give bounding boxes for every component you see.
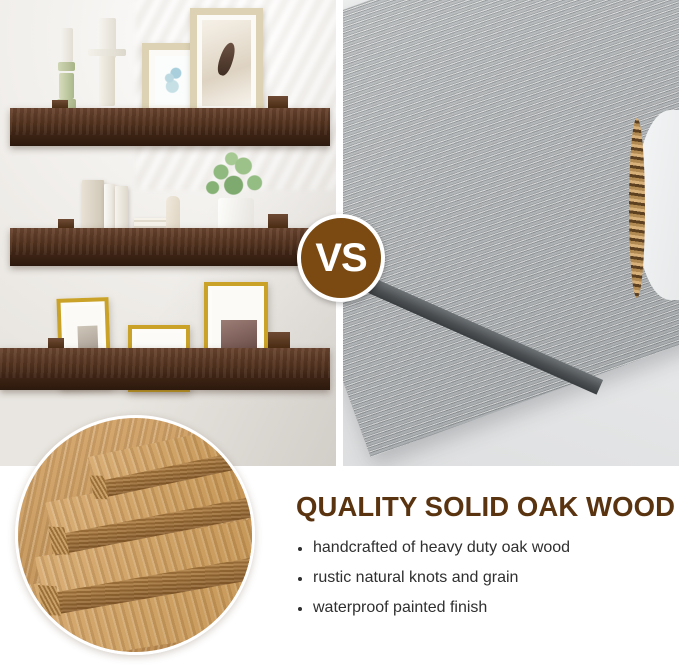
bullet-dot-icon bbox=[298, 547, 302, 551]
right-panel-particle-board bbox=[343, 0, 679, 466]
feature-bullet-item: waterproof painted finish bbox=[296, 600, 679, 616]
feather-artwork bbox=[202, 20, 251, 106]
picture-frame-feather bbox=[190, 8, 263, 118]
left-panel-solid-oak-shelves bbox=[0, 0, 336, 466]
candle-column bbox=[99, 56, 115, 106]
second-board-chip-edge bbox=[629, 118, 645, 298]
botanical-artwork bbox=[155, 56, 191, 105]
vs-badge-label: VS bbox=[315, 238, 366, 278]
vs-badge: VS bbox=[297, 214, 385, 302]
feature-bullet-text: rustic natural knots and grain bbox=[313, 569, 518, 586]
candle-tray bbox=[88, 49, 126, 56]
family-photo bbox=[221, 320, 257, 348]
feature-bullet-list: handcrafted of heavy duty oak wood rusti… bbox=[296, 540, 679, 616]
feature-bullet-item: rustic natural knots and grain bbox=[296, 570, 679, 586]
floating-shelf-middle bbox=[10, 228, 330, 276]
feature-bullet-text: handcrafted of heavy duty oak wood bbox=[313, 539, 570, 556]
pillar-candle-tall bbox=[60, 28, 73, 62]
oak-lumber-closeup-inset bbox=[15, 415, 255, 655]
floating-shelf-bottom bbox=[0, 348, 330, 400]
candle-holder-stem bbox=[59, 73, 74, 99]
feature-copy-block: QUALITY SOLID OAK WOOD handcrafted of he… bbox=[296, 493, 679, 630]
floating-shelf-top bbox=[10, 108, 330, 156]
feature-headline: QUALITY SOLID OAK WOOD bbox=[296, 493, 679, 522]
product-comparison-graphic: VS QUALITY SOLID OAK WOOD bbox=[0, 0, 679, 669]
bullet-dot-icon bbox=[298, 577, 302, 581]
feather-illustration bbox=[215, 41, 238, 77]
candle-holder-upper bbox=[58, 62, 75, 71]
feature-bullet-item: handcrafted of heavy duty oak wood bbox=[296, 540, 679, 556]
feature-bullet-text: waterproof painted finish bbox=[313, 599, 487, 616]
bullet-dot-icon bbox=[298, 607, 302, 611]
